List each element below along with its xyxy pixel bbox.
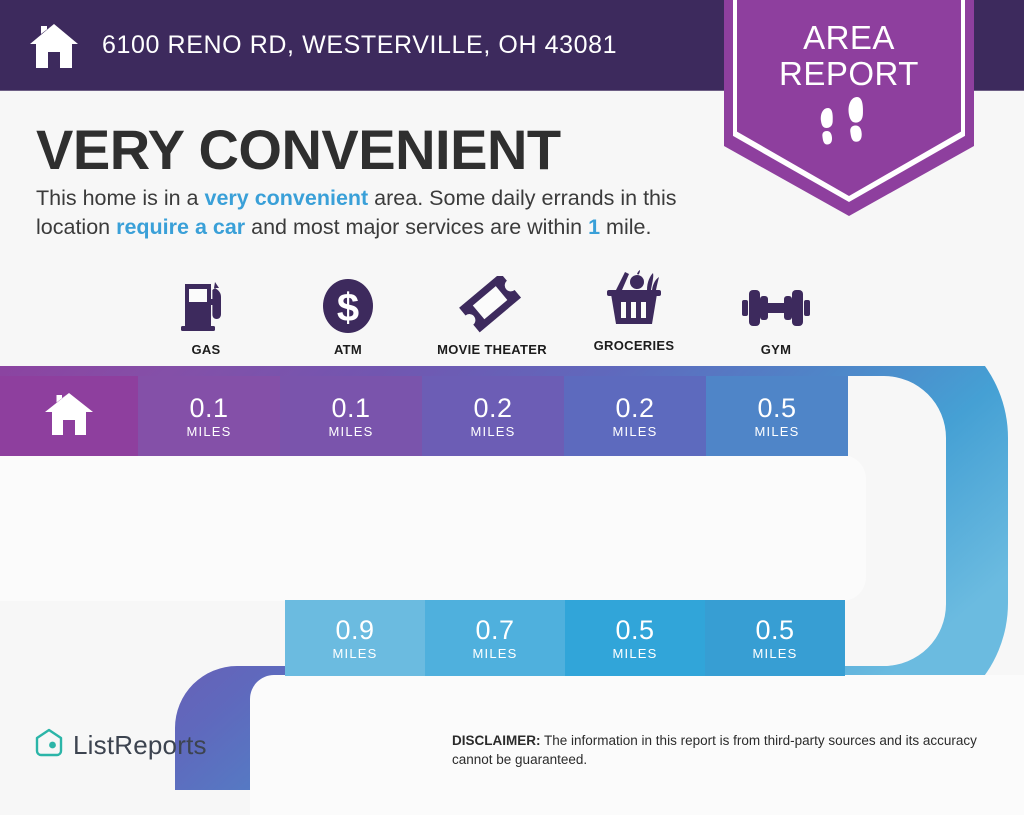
- service-atm: $ ATM: [288, 272, 408, 357]
- highlighted-phrase: require a car: [116, 215, 245, 239]
- icon-panel-row2-bg: [0, 455, 866, 601]
- ticket-icon: [422, 272, 562, 334]
- distance-value: 0.9: [335, 616, 374, 644]
- distance-value: 0.5: [757, 394, 796, 422]
- distance-unit: MILES: [328, 424, 373, 439]
- highlighted-phrase: very convenient: [204, 186, 368, 210]
- distance-unit: MILES: [754, 424, 799, 439]
- distance-value: 0.7: [475, 616, 514, 644]
- gas-pump-icon: [146, 272, 266, 334]
- distance-value: 0.2: [615, 394, 654, 422]
- distance-value: 0.5: [755, 616, 794, 644]
- distance-segment-medical: 0.5 MILES: [705, 600, 845, 676]
- distance-segment-gym: 0.5 MILES: [706, 376, 848, 456]
- distance-unit: MILES: [332, 646, 377, 661]
- distance-unit: MILES: [186, 424, 231, 439]
- disclaimer: DISCLAIMER: The information in this repo…: [452, 731, 988, 769]
- distance-value: 0.1: [189, 394, 228, 422]
- area-report-badge: AREA REPORT: [724, 0, 974, 216]
- disclaimer-label: DISCLAIMER:: [452, 733, 541, 748]
- distance-segment-movie-theater: 0.2 MILES: [422, 376, 564, 456]
- badge-title-line1: AREA: [724, 20, 974, 56]
- listreports-leaf-icon: [34, 727, 64, 764]
- distance-value: 0.2: [473, 394, 512, 422]
- distance-segment-groceries: 0.2 MILES: [564, 376, 706, 456]
- property-address: 6100 RENO RD, WESTERVILLE, OH 43081: [102, 31, 617, 60]
- service-gas: GAS: [146, 272, 266, 357]
- service-label: GROCERIES: [574, 338, 694, 353]
- area-report-infographic: 6100 RENO RD, WESTERVILLE, OH 43081 AREA…: [0, 0, 1024, 790]
- service-groceries: GROCERIES: [574, 268, 694, 353]
- paragraph-text: mile.: [600, 215, 651, 239]
- summary-paragraph: This home is in a very convenient area. …: [36, 184, 726, 242]
- distance-unit: MILES: [472, 646, 517, 661]
- badge-title-line2: REPORT: [724, 56, 974, 92]
- distance-unit: MILES: [612, 424, 657, 439]
- service-label: GAS: [146, 342, 266, 357]
- service-label: MOVIE THEATER: [422, 342, 562, 357]
- dumbbell-icon: [716, 272, 836, 334]
- grocery-basket-icon: [574, 268, 694, 330]
- home-marker-segment: [0, 376, 138, 456]
- distance-value: 0.5: [615, 616, 654, 644]
- footprints-icon: [724, 94, 974, 163]
- distance-segment-gas: 0.1 MILES: [138, 376, 280, 456]
- house-icon: [28, 22, 80, 70]
- distance-unit: MILES: [612, 646, 657, 661]
- distance-segment-cleaners: 0.9 MILES: [285, 600, 425, 676]
- distance-value: 0.1: [331, 394, 370, 422]
- service-label: GYM: [716, 342, 836, 357]
- svg-text:$: $: [337, 286, 359, 330]
- dollar-circle-icon: $: [288, 272, 408, 334]
- badge-title: AREA REPORT: [724, 20, 974, 92]
- paragraph-text: This home is in a: [36, 186, 204, 210]
- distance-segment-atm: 0.1 MILES: [280, 376, 422, 456]
- distance-segment-coffee: 0.7 MILES: [425, 600, 565, 676]
- listreports-logo[interactable]: ListReports: [34, 727, 207, 764]
- paragraph-text: and most major services are within: [245, 215, 588, 239]
- service-gym: GYM: [716, 272, 836, 357]
- service-movie-theater: MOVIE THEATER: [422, 272, 562, 357]
- distance-segment-pharmacy: 0.5 MILES: [565, 600, 705, 676]
- house-icon: [43, 391, 95, 442]
- distance-unit: MILES: [470, 424, 515, 439]
- service-label: ATM: [288, 342, 408, 357]
- distance-unit: MILES: [752, 646, 797, 661]
- page-title: VERY CONVENIENT: [36, 118, 561, 182]
- highlighted-phrase: 1: [588, 215, 600, 239]
- listreports-wordmark: ListReports: [73, 730, 207, 761]
